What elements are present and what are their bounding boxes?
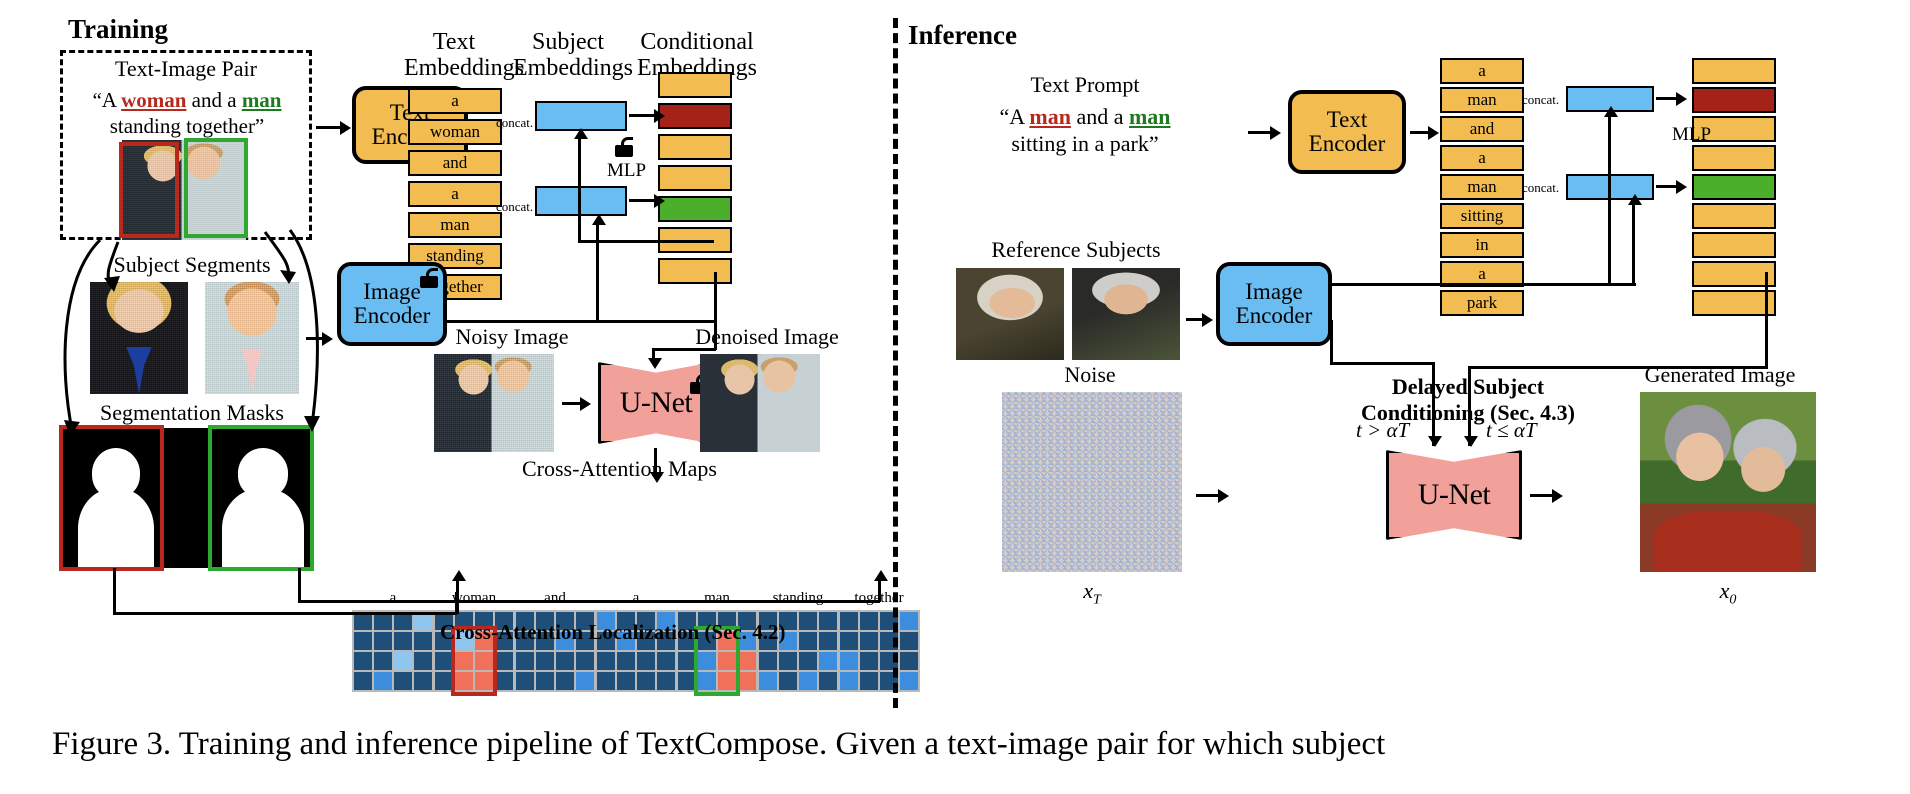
- line-image-encoder-down-h: [1330, 362, 1434, 365]
- cross-attention-localization-label: Cross-Attention Localization (Sec. 4.2): [440, 620, 786, 645]
- line-mask-w-right: [113, 612, 457, 615]
- attention-cell: [840, 632, 858, 650]
- inference-cond-0: [1692, 58, 1776, 84]
- noise-symbol-base: x: [1083, 578, 1093, 603]
- inference-cond-8: [1692, 290, 1776, 316]
- attention-cell: [617, 672, 635, 690]
- condition-right-label: t ≤ αT: [1486, 418, 1537, 443]
- inference-prompt-subject-2: man: [1129, 104, 1171, 129]
- noisy-image-label: Noisy Image: [428, 324, 596, 350]
- inference-image-encoder[interactable]: Image Encoder: [1216, 262, 1332, 346]
- subject-embeddings-heading: Subject Embeddings: [513, 30, 623, 82]
- line-cond-to-unet: [714, 272, 717, 350]
- attention-cell: [900, 672, 918, 690]
- training-token-4: man: [408, 212, 502, 238]
- attention-cell: [637, 652, 655, 670]
- prompt-middle: and a: [186, 88, 241, 112]
- training-prompt: “A woman and a man standing together”: [56, 88, 318, 139]
- generated-image: [1640, 392, 1816, 572]
- attention-cell: [840, 612, 858, 630]
- training-cond-0: [658, 72, 732, 98]
- attention-cell: [860, 652, 878, 670]
- attention-cell: [657, 672, 675, 690]
- attention-cell: [576, 672, 594, 690]
- inference-token-1: man: [1440, 87, 1524, 113]
- arrow-head-dsc-left: [1428, 436, 1442, 447]
- inference-token-5: sitting: [1440, 203, 1524, 229]
- attention-cell: [556, 652, 574, 670]
- inference-cond-1: [1692, 87, 1776, 113]
- inference-cond-6: [1692, 232, 1776, 258]
- lock-open-icon: [615, 137, 633, 157]
- attention-cell: [495, 652, 513, 670]
- arrow-head-subject2-to-cond: [654, 194, 665, 208]
- arrow-head-refs-to-image-encoder: [1202, 313, 1213, 327]
- arrow-line-unet-to-generated: [1530, 494, 1554, 497]
- text-embeddings-heading: Text Embeddings: [404, 30, 504, 82]
- training-token-2: and: [408, 150, 502, 176]
- arrow-head-prompt-to-text-encoder: [1270, 126, 1281, 140]
- training-curved-arrows: [0, 220, 360, 460]
- attention-cell: [799, 632, 817, 650]
- training-concat-label-1: concat.: [496, 115, 533, 131]
- arrow-head-unet-to-generated: [1552, 489, 1563, 503]
- attention-cell: [637, 672, 655, 690]
- training-concat-label-2: concat.: [496, 199, 533, 215]
- arrow-line-pair-to-text-encoder: [316, 126, 342, 129]
- attention-cell: [597, 652, 615, 670]
- inference-cond-5: [1692, 203, 1776, 229]
- line-mask-m-right: [298, 600, 880, 603]
- training-cond-4: [658, 196, 732, 222]
- image-encoder-line-1: Image: [363, 280, 420, 304]
- line-mask-m-down: [298, 568, 301, 602]
- attention-cell: [779, 672, 797, 690]
- noisy-image: [434, 354, 554, 452]
- training-token-0: a: [408, 88, 502, 114]
- prompt-open: “A: [92, 88, 121, 112]
- section-divider: [893, 18, 898, 708]
- text-prompt-label: Text Prompt: [960, 72, 1210, 98]
- attention-cell: [819, 632, 837, 650]
- arrow-head-attn-man: [874, 570, 888, 581]
- inference-token-3: a: [1440, 145, 1524, 171]
- noise-image: [1002, 392, 1182, 572]
- attention-cell: [516, 652, 534, 670]
- arrow-head-pair-to-text-encoder: [340, 121, 351, 135]
- inference-prompt-tail: sitting in a park”: [1011, 131, 1158, 156]
- attention-cell: [374, 652, 392, 670]
- attention-cell: [597, 672, 615, 690]
- attention-cell: [576, 652, 594, 670]
- attention-cell: [617, 652, 635, 670]
- attention-cell: [556, 672, 574, 690]
- prompt-subject-1: woman: [121, 88, 186, 112]
- arrow-line-prompt-to-text-encoder: [1248, 131, 1272, 134]
- arrow-head-subject1-to-cond: [654, 109, 665, 123]
- line-attn-woman-up: [456, 576, 459, 614]
- training-subject-embedding-1: [535, 101, 627, 131]
- attention-map-0: [352, 610, 434, 692]
- attention-cell: [536, 672, 554, 690]
- attention-cell: [516, 672, 534, 690]
- attention-cell: [374, 632, 392, 650]
- attention-cell: [900, 612, 918, 630]
- conditional-embeddings-heading-line-1: Conditional: [636, 30, 758, 56]
- attention-cell: [860, 632, 878, 650]
- arrow-head-subject-feed-1: [574, 128, 588, 139]
- arrow-head-dsc-right: [1464, 436, 1478, 447]
- attention-cell: [819, 652, 837, 670]
- inference-prompt-middle: and a: [1071, 104, 1129, 129]
- training-token-1: woman: [408, 119, 502, 145]
- line-image-encoder-down: [1330, 320, 1333, 364]
- generated-symbol-base: x: [1720, 578, 1730, 603]
- inference-text-encoder-line-2: Encoder: [1309, 132, 1386, 156]
- text-embeddings-heading-line-1: Text: [404, 30, 504, 56]
- line-mask-w-down: [113, 568, 116, 614]
- attention-cell: [414, 632, 432, 650]
- attention-cell: [414, 672, 432, 690]
- training-subject-embedding-2: [535, 186, 627, 216]
- image-encoder-line-2: Encoder: [354, 304, 431, 328]
- attention-cell: [354, 632, 372, 650]
- training-cond-2: [658, 134, 732, 160]
- inference-section-title: Inference: [908, 20, 1017, 51]
- attention-cell: [840, 672, 858, 690]
- inference-prompt-open: “A: [999, 104, 1029, 129]
- arrow-head-text-encoder-to-tokens: [1428, 126, 1439, 140]
- arrow-head-attn-woman: [452, 570, 466, 581]
- training-cond-3: [658, 165, 732, 191]
- line-cond-to-unet-h: [652, 348, 716, 351]
- attention-cell: [799, 672, 817, 690]
- attention-cell: [354, 652, 372, 670]
- generated-symbol-sub: 0: [1729, 592, 1736, 607]
- inference-token-4: man: [1440, 174, 1524, 200]
- subject-embeddings-heading-line-2: Embeddings: [513, 56, 623, 82]
- line-cond-column-down: [1765, 272, 1768, 368]
- figure-caption: Figure 3. Training and inference pipelin…: [52, 726, 1385, 763]
- prompt-tail: standing together”: [110, 114, 265, 138]
- inference-prompt-subject-1: man: [1029, 104, 1071, 129]
- attention-cell: [840, 652, 858, 670]
- cross-attention-maps-label: Cross-Attention Maps: [522, 456, 717, 482]
- attention-cell: [799, 652, 817, 670]
- attention-cell: [860, 612, 878, 630]
- attention-cell: [819, 612, 837, 630]
- noise-label: Noise: [1000, 362, 1180, 388]
- generated-symbol: x0: [1640, 578, 1816, 608]
- attention-cell: [799, 612, 817, 630]
- attention-cell: [860, 672, 878, 690]
- inference-image-encoder-line-2: Encoder: [1236, 304, 1313, 328]
- inference-text-encoder-line-1: Text: [1327, 108, 1368, 132]
- inference-prompt: “A man and a man sitting in a park”: [930, 104, 1240, 158]
- inference-concat-label-2: concat.: [1522, 180, 1559, 196]
- training-section-title: Training: [68, 14, 168, 45]
- reference-subject-1: [956, 268, 1064, 360]
- arrow-line-subject2-to-cond: [629, 199, 657, 202]
- training-mlp-label: MLP: [607, 160, 646, 182]
- arrow-line-subject1-to-cond: [629, 114, 657, 117]
- arrow-head-noisy-to-unet: [580, 397, 591, 411]
- inference-token-8: park: [1440, 290, 1524, 316]
- arrow-head-inf-subject2-to-cond: [1676, 180, 1687, 194]
- inference-token-0: a: [1440, 58, 1524, 84]
- condition-left-label: t > αT: [1356, 418, 1409, 443]
- denoised-image: [700, 354, 820, 452]
- attention-cell: [414, 652, 432, 670]
- attention-map-6: [838, 610, 920, 692]
- inference-token-6: in: [1440, 232, 1524, 258]
- arrow-head-inf-subject-feed-2: [1628, 194, 1642, 205]
- attention-cell: [779, 652, 797, 670]
- reference-subject-2: [1072, 268, 1180, 360]
- attention-cell: [374, 672, 392, 690]
- attention-cell: [394, 672, 412, 690]
- inference-text-encoder[interactable]: Text Encoder: [1288, 90, 1406, 174]
- figure-canvas: Training Text-Image Pair “A woman and a …: [0, 0, 1910, 794]
- training-token-3: a: [408, 181, 502, 207]
- prompt-subject-2: man: [242, 88, 282, 112]
- training-cond-6: [658, 258, 732, 284]
- arrow-head-inf-subject1-to-cond: [1676, 92, 1687, 106]
- training-cond-1: [658, 103, 732, 129]
- attention-cell: [394, 652, 412, 670]
- inference-unet-label: U-Net: [1386, 478, 1522, 512]
- arrow-line-noise-to-unet: [1196, 494, 1220, 497]
- line-inf-subject-feed-join: [1608, 283, 1636, 286]
- reference-subjects-label: Reference Subjects: [936, 237, 1216, 263]
- attention-cell: [900, 652, 918, 670]
- attention-cell: [495, 672, 513, 690]
- inference-image-encoder-line-1: Image: [1245, 280, 1302, 304]
- attention-cell: [900, 632, 918, 650]
- attention-cell: [759, 652, 777, 670]
- inference-cond-3: [1692, 145, 1776, 171]
- arrow-head-inf-subject-feed-1: [1604, 106, 1618, 117]
- attention-cell: [354, 672, 372, 690]
- inference-cond-4: [1692, 174, 1776, 200]
- text-image-pair-label: Text-Image Pair: [60, 56, 312, 82]
- noise-symbol-sub: T: [1093, 592, 1101, 607]
- line-subject-feed-2-h: [596, 320, 714, 323]
- line-subject-feed-2: [596, 219, 599, 323]
- arrow-head-subject-feed-2: [592, 214, 606, 225]
- generated-image-label: Generated Image: [1600, 362, 1840, 388]
- line-inf-subject-feed-2: [1632, 200, 1635, 286]
- inference-concat-label-1: concat.: [1522, 92, 1559, 108]
- text-embeddings-heading-line-2: Embeddings: [404, 56, 504, 82]
- denoised-image-label: Denoised Image: [672, 324, 862, 350]
- line-subject-feed-1: [578, 133, 581, 241]
- attention-cell: [394, 632, 412, 650]
- noise-symbol: xT: [1002, 578, 1182, 608]
- arrow-head-noise-to-unet: [1218, 489, 1229, 503]
- attention-cell: [759, 672, 777, 690]
- attention-cell: [738, 672, 756, 690]
- inference-cond-7: [1692, 261, 1776, 287]
- line-inf-subject-feed-1: [1608, 112, 1611, 284]
- inference-unet[interactable]: U-Net: [1386, 450, 1522, 540]
- lock-open-icon: [420, 268, 438, 288]
- attention-cell: [536, 652, 554, 670]
- attention-cell: [657, 652, 675, 670]
- dsc-line-1: Delayed Subject: [1348, 374, 1588, 400]
- subject-embeddings-heading-line-1: Subject: [513, 30, 623, 56]
- inference-token-2: and: [1440, 116, 1524, 142]
- attention-cell: [819, 672, 837, 690]
- arrow-head-cond-to-unet: [648, 358, 662, 369]
- inference-mlp-label: MLP: [1672, 124, 1711, 146]
- attention-cell: [738, 652, 756, 670]
